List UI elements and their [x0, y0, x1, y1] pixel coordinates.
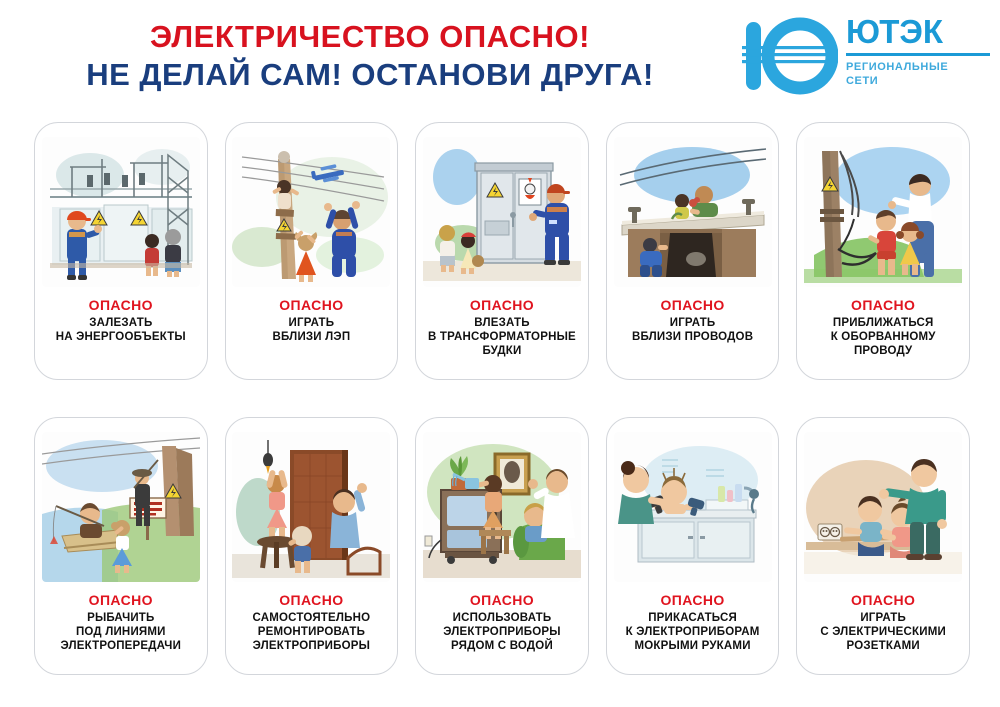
card-text-line: ПОД ЛИНИЯМИ: [35, 625, 207, 639]
transformer-cabinet-worker-children-illustration: [423, 137, 581, 287]
safety-card-5[interactable]: ОПАСНО ПРИБЛИЖАТЬСЯ К ОБОРВАННОМУ ПРОВОД…: [796, 122, 970, 380]
card-text-line: РЫБАЧИТЬ: [35, 611, 207, 625]
card-text-line: ИГРАТЬ: [797, 611, 969, 625]
card-caption: ОПАСНО ИГРАТЬ ВБЛИЗИ ПРОВОДОВ: [607, 297, 779, 344]
card-text: ИСПОЛЬЗОВАТЬ ЭЛЕКТРОПРИБОРЫ РЯДОМ С ВОДО…: [416, 611, 588, 653]
card-text-line: БУДКИ: [416, 344, 588, 358]
card-text: ПРИКАСАТЬСЯ К ЭЛЕКТРОПРИБОРАМ МОКРЫМИ РУ…: [607, 611, 779, 653]
card-text: РЫБАЧИТЬ ПОД ЛИНИЯМИ ЭЛЕКТРОПЕРЕДАЧИ: [35, 611, 207, 653]
card-caption: ОПАСНО ПРИКАСАТЬСЯ К ЭЛЕКТРОПРИБОРАМ МОК…: [607, 592, 779, 653]
card-text-line: НА ЭНЕРГООБЪЕКТЫ: [35, 330, 207, 344]
card-text-line: ЭЛЕКТРОПРИБОРЫ: [225, 639, 397, 653]
card-text: ИГРАТЬ С ЭЛЕКТРИЧЕСКИМИ РОЗЕТКАМИ: [797, 611, 969, 653]
power-pole-kite-plane-children-illustration: [232, 137, 390, 287]
title-line-2: НЕ ДЕЛАЙ САМ! ОСТАНОВИ ДРУГА!: [0, 56, 740, 94]
yu-circle-logo-icon: [742, 16, 838, 96]
card-text-line: МОКРЫМИ РУКАМИ: [607, 639, 779, 653]
fishing-under-power-lines-illustration: [42, 432, 200, 582]
card-caption: ОПАСНО САМОСТОЯТЕЛЬНО РЕМОНТИРОВАТЬ ЭЛЕК…: [225, 592, 397, 653]
logo-subtitle-line-1: РЕГИОНАЛЬНЫЕ: [846, 60, 992, 74]
card-text-line: ВЛЕЗАТЬ: [416, 316, 588, 330]
danger-label: ОПАСНО: [35, 297, 207, 314]
danger-label: ОПАСНО: [607, 592, 779, 609]
safety-card-9[interactable]: ОПАСНО ПРИКАСАТЬСЯ К ЭЛЕКТРОПРИБОРАМ МОК…: [606, 417, 780, 675]
card-caption: ОПАСНО РЫБАЧИТЬ ПОД ЛИНИЯМИ ЭЛЕКТРОПЕРЕД…: [35, 592, 207, 653]
card-text-line: САМОСТОЯТЕЛЬНО: [225, 611, 397, 625]
card-row-1: ОПАСНО ЗАЛЕЗАТЬ НА ЭНЕРГООБЪЕКТЫ: [34, 122, 970, 380]
safety-card-8[interactable]: ОПАСНО ИСПОЛЬЗОВАТЬ ЭЛЕКТРОПРИБОРЫ РЯДОМ…: [415, 417, 589, 675]
card-text-line: ИСПОЛЬЗОВАТЬ: [416, 611, 588, 625]
girl-on-stool-ceiling-lamp-illustration: [232, 432, 390, 582]
card-text: ВЛЕЗАТЬ В ТРАНСФОРМАТОРНЫЕ БУДКИ: [416, 316, 588, 358]
safety-card-2[interactable]: ОПАСНО ИГРАТЬ ВБЛИЗИ ЛЭП: [225, 122, 399, 380]
danger-label: ОПАСНО: [35, 592, 207, 609]
card-text-line: ВБЛИЗИ ПРОВОДОВ: [607, 330, 779, 344]
safety-card-4[interactable]: ОПАСНО ИГРАТЬ ВБЛИЗИ ПРОВОДОВ: [606, 122, 780, 380]
downed-wire-mother-children-illustration: [804, 137, 962, 287]
card-text-line: РЯДОМ С ВОДОЙ: [416, 639, 588, 653]
safety-card-10[interactable]: ОПАСНО ИГРАТЬ С ЭЛЕКТРИЧЕСКИМИ РОЗЕТКАМИ: [796, 417, 970, 675]
garage-roof-children-wires-illustration: [614, 137, 772, 287]
substation-worker-children-illustration: [42, 137, 200, 287]
title-line-1: ЭЛЕКТРИЧЕСТВО ОПАСНО!: [0, 18, 740, 56]
card-text-line: ЭЛЕКТРОПРИБОРЫ: [416, 625, 588, 639]
card-caption: ОПАСНО ЗАЛЕЗАТЬ НА ЭНЕРГООБЪЕКТЫ: [35, 297, 207, 344]
children-near-wall-socket-illustration: [804, 432, 962, 582]
card-text: ЗАЛЕЗАТЬ НА ЭНЕРГООБЪЕКТЫ: [35, 316, 207, 344]
safety-card-3[interactable]: ОПАСНО ВЛЕЗАТЬ В ТРАНСФОРМАТОРНЫЕ БУДКИ: [415, 122, 589, 380]
card-caption: ОПАСНО ИСПОЛЬЗОВАТЬ ЭЛЕКТРОПРИБОРЫ РЯДОМ…: [416, 592, 588, 653]
card-text: САМОСТОЯТЕЛЬНО РЕМОНТИРОВАТЬ ЭЛЕКТРОПРИБ…: [225, 611, 397, 653]
safety-card-7[interactable]: ОПАСНО САМОСТОЯТЕЛЬНО РЕМОНТИРОВАТЬ ЭЛЕК…: [225, 417, 399, 675]
card-text: ИГРАТЬ ВБЛИЗИ ЛЭП: [225, 316, 397, 344]
card-text-line: К ОБОРВАННОМУ: [797, 330, 969, 344]
card-text-line: РЕМОНТИРОВАТЬ: [225, 625, 397, 639]
card-text-line: К ЭЛЕКТРОПРИБОРАМ: [607, 625, 779, 639]
logo-divider: [846, 53, 990, 56]
danger-label: ОПАСНО: [607, 297, 779, 314]
card-text-line: ПРИКАСАТЬСЯ: [607, 611, 779, 625]
safety-card-1[interactable]: ОПАСНО ЗАЛЕЗАТЬ НА ЭНЕРГООБЪЕКТЫ: [34, 122, 208, 380]
safety-card-grid: ОПАСНО ЗАЛЕЗАТЬ НА ЭНЕРГООБЪЕКТЫ: [34, 122, 970, 675]
watering-plant-on-tv-illustration: [423, 432, 581, 582]
card-text-line: В ТРАНСФОРМАТОРНЫЕ: [416, 330, 588, 344]
card-text-line: РОЗЕТКАМИ: [797, 639, 969, 653]
card-caption: ОПАСНО ПРИБЛИЖАТЬСЯ К ОБОРВАННОМУ ПРОВОД…: [797, 297, 969, 358]
card-text-line: С ЭЛЕКТРИЧЕСКИМИ: [797, 625, 969, 639]
card-text-line: ПРОВОДУ: [797, 344, 969, 358]
logo-subtitle-line-2: СЕТИ: [846, 74, 992, 88]
safety-card-6[interactable]: ОПАСНО РЫБАЧИТЬ ПОД ЛИНИЯМИ ЭЛЕКТРОПЕРЕД…: [34, 417, 208, 675]
bathroom-hairdryer-wet-hands-illustration: [614, 432, 772, 582]
card-text-line: ИГРАТЬ: [225, 316, 397, 330]
company-logo: ЮТЭК РЕГИОНАЛЬНЫЕ СЕТИ: [742, 14, 992, 100]
danger-label: ОПАСНО: [797, 297, 969, 314]
card-text: ИГРАТЬ ВБЛИЗИ ПРОВОДОВ: [607, 316, 779, 344]
card-text-line: ИГРАТЬ: [607, 316, 779, 330]
logo-text-block: ЮТЭК РЕГИОНАЛЬНЫЕ СЕТИ: [846, 14, 992, 88]
card-row-2: ОПАСНО РЫБАЧИТЬ ПОД ЛИНИЯМИ ЭЛЕКТРОПЕРЕД…: [34, 417, 970, 675]
card-caption: ОПАСНО ИГРАТЬ С ЭЛЕКТРИЧЕСКИМИ РОЗЕТКАМИ: [797, 592, 969, 653]
poster-header: ЭЛЕКТРИЧЕСТВО ОПАСНО! НЕ ДЕЛАЙ САМ! ОСТА…: [0, 0, 1000, 112]
danger-label: ОПАСНО: [416, 592, 588, 609]
card-text-line: ВБЛИЗИ ЛЭП: [225, 330, 397, 344]
card-text: ПРИБЛИЖАТЬСЯ К ОБОРВАННОМУ ПРОВОДУ: [797, 316, 969, 358]
card-caption: ОПАСНО ВЛЕЗАТЬ В ТРАНСФОРМАТОРНЫЕ БУДКИ: [416, 297, 588, 358]
danger-label: ОПАСНО: [416, 297, 588, 314]
poster-title: ЭЛЕКТРИЧЕСТВО ОПАСНО! НЕ ДЕЛАЙ САМ! ОСТА…: [0, 18, 740, 94]
card-text-line: ПРИБЛИЖАТЬСЯ: [797, 316, 969, 330]
danger-label: ОПАСНО: [225, 592, 397, 609]
danger-label: ОПАСНО: [797, 592, 969, 609]
danger-label: ОПАСНО: [225, 297, 397, 314]
card-caption: ОПАСНО ИГРАТЬ ВБЛИЗИ ЛЭП: [225, 297, 397, 344]
card-text-line: ЗАЛЕЗАТЬ: [35, 316, 207, 330]
card-text-line: ЭЛЕКТРОПЕРЕДАЧИ: [35, 639, 207, 653]
logo-name: ЮТЭК: [846, 14, 992, 50]
